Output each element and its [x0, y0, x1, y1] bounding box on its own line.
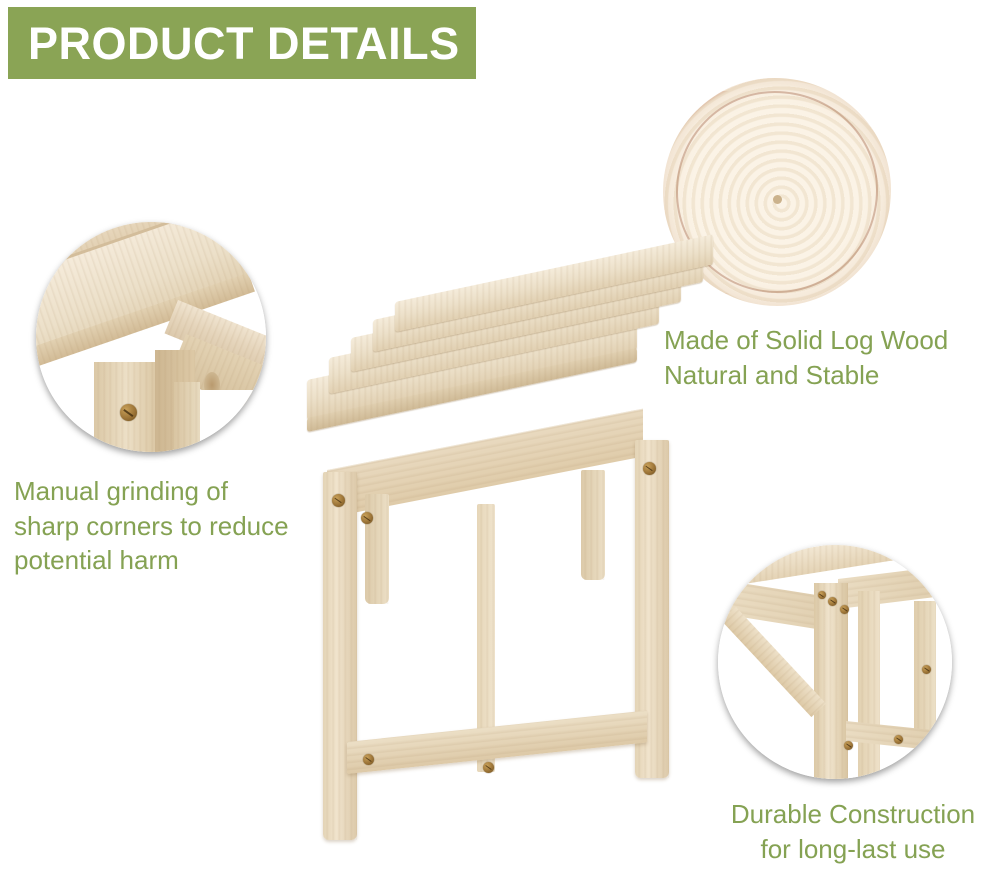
screw-icon [818, 591, 826, 599]
screw-icon [363, 754, 374, 765]
screw-icon [828, 597, 837, 606]
header-banner: PRODUCT DETAILS [8, 7, 476, 79]
feature-image-rounded-corner [36, 222, 266, 452]
bench-leg-joint-closeup [718, 545, 952, 779]
feature-caption-durable-construction: Durable Construction for long-last use [718, 797, 988, 866]
product-details-page: PRODUCT DETAILS [0, 0, 992, 871]
bench-corner-closeup [36, 222, 266, 452]
log-pith-center [773, 195, 782, 204]
feature-caption-solid-log-wood: Made of Solid Log Wood Natural and Stabl… [664, 323, 992, 392]
screw-icon [361, 512, 373, 524]
screw-icon [332, 494, 345, 507]
screw-icon [844, 741, 853, 750]
wooden-bench [305, 322, 705, 852]
page-title: PRODUCT DETAILS [8, 21, 460, 66]
feature-image-durable-construction [718, 545, 952, 779]
screw-icon [922, 665, 931, 674]
bench-leg-rear-left [365, 494, 389, 604]
bench-leg-rear-right [581, 470, 605, 580]
bench-leg-front-left [323, 472, 357, 840]
screw-icon [840, 605, 849, 614]
screw-icon [120, 404, 137, 421]
feature-caption-rounded-corner: Manual grinding of sharp corners to redu… [14, 474, 344, 578]
bench-stretcher [347, 710, 647, 774]
screw-icon [483, 762, 494, 773]
screw-icon [643, 462, 656, 475]
screw-icon [894, 735, 903, 744]
